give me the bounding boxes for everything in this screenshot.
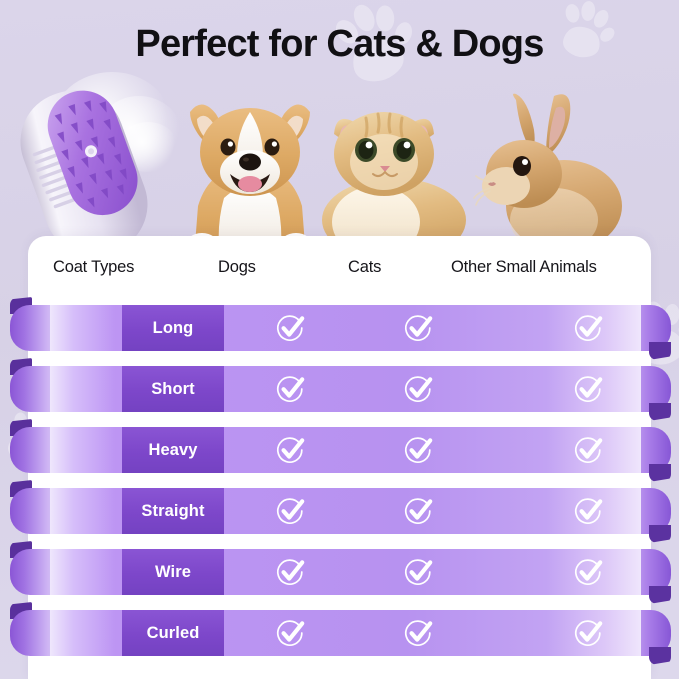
- table-row: Curled: [0, 610, 679, 656]
- dog-photo: [168, 86, 333, 258]
- coat-type-text: Long: [153, 319, 194, 338]
- check-circle-icon: [403, 313, 433, 343]
- check-circle-icon: [573, 374, 603, 404]
- table-row: Straight: [0, 488, 679, 534]
- check-circle-icon: [275, 313, 305, 343]
- column-header-coat-types: Coat Types: [53, 258, 134, 277]
- table-header-row: Coat Types Dogs Cats Other Small Animals: [28, 258, 651, 298]
- check-circle-icon: [403, 618, 433, 648]
- check-circle-icon: [573, 496, 603, 526]
- column-header-cats: Cats: [348, 258, 381, 277]
- check-circle-icon: [275, 618, 305, 648]
- table-row: Wire: [0, 549, 679, 595]
- check-circle-icon: [573, 435, 603, 465]
- coat-type-label: Straight: [122, 488, 224, 534]
- ribbon-fold-right: [649, 464, 671, 482]
- coat-type-label: Heavy: [122, 427, 224, 473]
- table-row: Long: [0, 305, 679, 351]
- check-circle-icon: [573, 313, 603, 343]
- rabbit-photo: [472, 90, 624, 258]
- check-circle-icon: [403, 557, 433, 587]
- cat-photo: [310, 98, 470, 258]
- ribbon-band: Long: [50, 305, 641, 351]
- card-bottom-edge: [28, 668, 651, 679]
- ribbon-fold-right: [649, 647, 671, 665]
- hero-image-band: [0, 78, 679, 258]
- ribbon-fold-right: [649, 525, 671, 543]
- coat-type-text: Straight: [141, 502, 204, 521]
- check-circle-icon: [573, 557, 603, 587]
- ribbon-band: Wire: [50, 549, 641, 595]
- ribbon-fold-right: [649, 342, 671, 360]
- coat-type-text: Curled: [147, 624, 200, 643]
- check-circle-icon: [403, 374, 433, 404]
- infographic-root: Perfect for Cats & Dogs: [0, 0, 679, 679]
- coat-type-text: Wire: [155, 563, 191, 582]
- ribbon-band: Short: [50, 366, 641, 412]
- column-header-dogs: Dogs: [218, 258, 256, 277]
- ribbon-band: Heavy: [50, 427, 641, 473]
- coat-type-text: Heavy: [148, 441, 197, 460]
- check-circle-icon: [275, 557, 305, 587]
- check-circle-icon: [275, 435, 305, 465]
- table-row: Heavy: [0, 427, 679, 473]
- page-title: Perfect for Cats & Dogs: [0, 23, 679, 66]
- ribbon-fold-right: [649, 403, 671, 421]
- ribbon-fold-right: [649, 586, 671, 604]
- coat-type-text: Short: [151, 380, 195, 399]
- coat-type-label: Long: [122, 305, 224, 351]
- check-circle-icon: [403, 435, 433, 465]
- check-circle-icon: [573, 618, 603, 648]
- ribbon-band: Straight: [50, 488, 641, 534]
- check-circle-icon: [403, 496, 433, 526]
- coat-type-label: Wire: [122, 549, 224, 595]
- steam-pet-brush: [6, 83, 166, 258]
- check-circle-icon: [275, 374, 305, 404]
- check-circle-icon: [275, 496, 305, 526]
- coat-type-label: Short: [122, 366, 224, 412]
- table-row: Short: [0, 366, 679, 412]
- column-header-other: Other Small Animals: [451, 258, 597, 277]
- coat-type-label: Curled: [122, 610, 224, 656]
- ribbon-band: Curled: [50, 610, 641, 656]
